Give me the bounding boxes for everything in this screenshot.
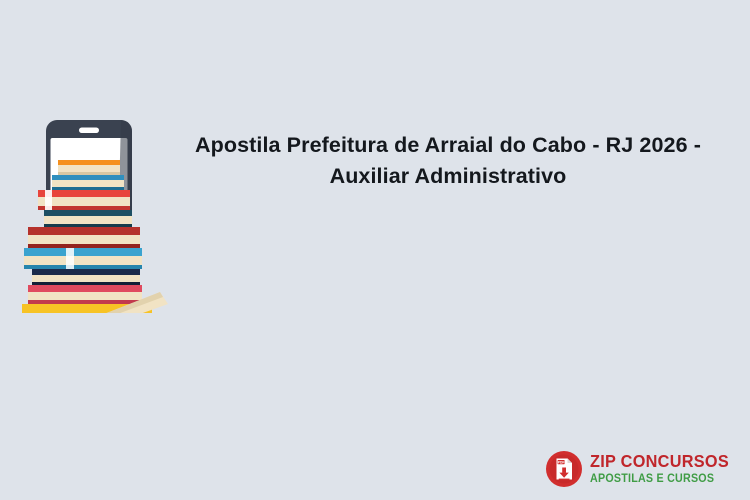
svg-text:PDF: PDF bbox=[557, 460, 564, 464]
page-title: Apostila Prefeitura de Arraial do Cabo -… bbox=[170, 130, 726, 192]
book-darknavy-7 bbox=[32, 269, 140, 285]
brand-logo-wordmark: ZIP CONCURSOS APOSTILAS E CURSOS bbox=[590, 453, 739, 485]
book-pink-8 bbox=[28, 285, 142, 304]
book-orange-top bbox=[58, 160, 120, 175]
promo-banner: Apostila Prefeitura de Arraial do Cabo -… bbox=[0, 0, 750, 500]
book-stack-illustration bbox=[8, 118, 178, 313]
book-red-3 bbox=[38, 190, 130, 210]
brand-tagline: APOSTILAS E CURSOS bbox=[590, 474, 729, 486]
pdf-download-circle-icon: PDF bbox=[545, 450, 583, 488]
book-darkred-5 bbox=[28, 227, 140, 248]
brand-logo[interactable]: PDF ZIP CONCURSOS APOSTILAS E CURSOS bbox=[545, 448, 739, 490]
book-navy-4 bbox=[44, 210, 132, 227]
book-teal-2 bbox=[52, 175, 124, 190]
book-blue-6 bbox=[24, 248, 142, 269]
page-title-text: Apostila Prefeitura de Arraial do Cabo -… bbox=[170, 130, 726, 192]
brand-name: ZIP CONCURSOS bbox=[590, 453, 729, 471]
